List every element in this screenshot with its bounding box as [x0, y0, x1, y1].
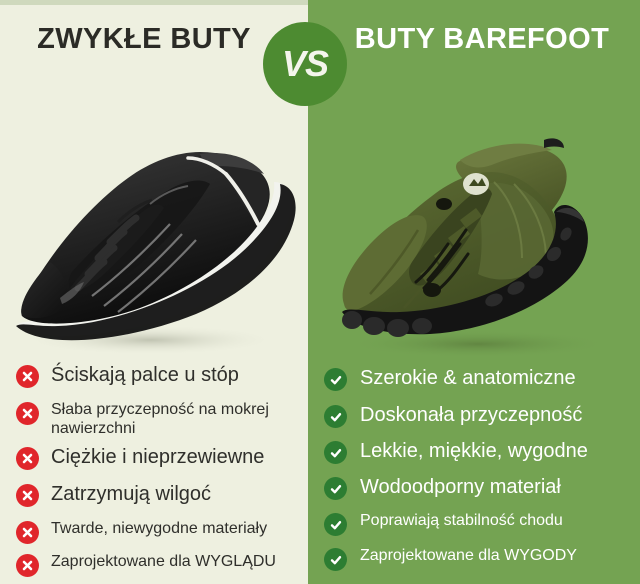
cross-icon	[16, 447, 39, 470]
list-item: Zaprojektowane dla WYGODY	[324, 547, 634, 571]
list-item-label: Ściskają palce u stóp	[51, 364, 239, 388]
list-item: Szerokie & anatomiczne	[324, 367, 634, 391]
conventional-shoe-image	[0, 112, 308, 360]
check-icon	[324, 405, 347, 428]
list-item: Ciężkie i nieprzewiewne	[16, 446, 300, 470]
list-item-label: Zatrzymują wilgoć	[51, 483, 211, 507]
list-item: Lekkie, miękkie, wygodne	[324, 440, 634, 464]
left-panel-title: ZWYKŁE BUTY	[10, 22, 278, 57]
check-icon	[324, 477, 347, 500]
check-icon	[324, 441, 347, 464]
vs-badge: VS	[263, 22, 347, 106]
list-item: Wodoodporny materiał	[324, 476, 634, 500]
list-item: Słaba przyczepność na mokrej nawierzchni	[16, 401, 300, 439]
list-item: Doskonała przyczepność	[324, 404, 634, 428]
cross-icon	[16, 484, 39, 507]
list-item-label: Poprawiają stabilność chodu	[360, 512, 563, 531]
right-panel-title: BUTY BAREFOOT	[336, 22, 628, 57]
list-item: Zatrzymują wilgoć	[16, 483, 300, 507]
cross-icon	[16, 365, 39, 388]
cross-icon	[16, 521, 39, 544]
list-item-label: Ciężkie i nieprzewiewne	[51, 446, 264, 470]
list-item-label: Szerokie & anatomiczne	[360, 367, 576, 391]
list-item-label: Zaprojektowane dla WYGLĄDU	[51, 553, 276, 572]
cons-list: Ściskają palce u stóp Słaba przyczepność…	[0, 362, 308, 584]
list-item-label: Lekkie, miękkie, wygodne	[360, 440, 588, 464]
top-divider-rule	[0, 0, 308, 5]
list-item-label: Wodoodporny materiał	[360, 476, 561, 500]
barefoot-shoe-image	[308, 112, 640, 360]
list-item-label: Twarde, niewygodne materiały	[51, 520, 267, 539]
check-icon	[324, 368, 347, 391]
list-item-label: Doskonała przyczepność	[360, 404, 582, 428]
vs-badge-label: VS	[282, 46, 328, 82]
list-item: Zaprojektowane dla WYGLĄDU	[16, 553, 300, 577]
comparison-infographic: ZWYKŁE BUTY BUTY BAREFOOT VS	[0, 0, 640, 584]
list-item: Twarde, niewygodne materiały	[16, 520, 300, 544]
list-item: Poprawiają stabilność chodu	[324, 512, 634, 536]
check-icon	[324, 513, 347, 536]
cross-icon	[16, 554, 39, 577]
check-icon	[324, 548, 347, 571]
list-item: Ściskają palce u stóp	[16, 364, 300, 388]
list-item-label: Zaprojektowane dla WYGODY	[360, 547, 577, 566]
pros-list: Szerokie & anatomiczne Doskonała przycze…	[308, 362, 640, 584]
list-item-label: Słaba przyczepność na mokrej nawierzchni	[51, 401, 300, 439]
cross-icon	[16, 402, 39, 425]
